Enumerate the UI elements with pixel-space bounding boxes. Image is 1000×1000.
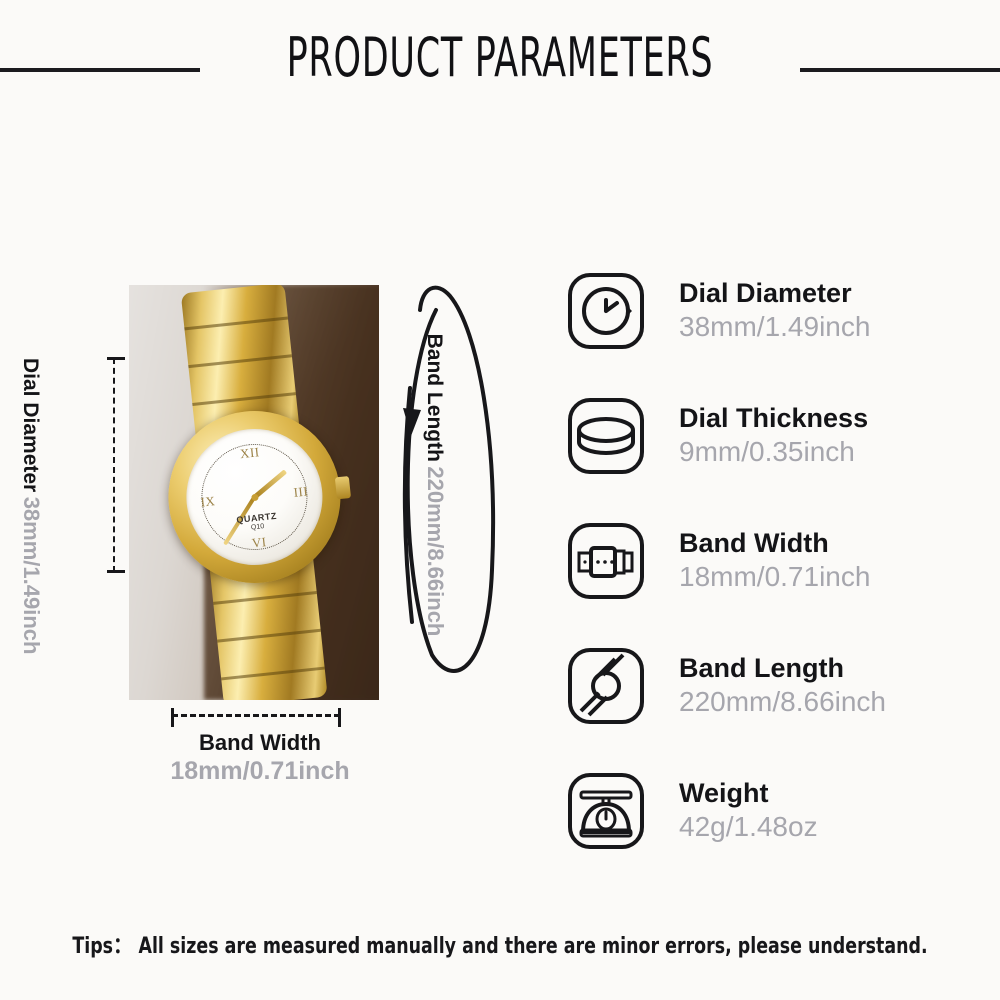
page-title: PRODUCT PARAMETERS bbox=[140, 30, 860, 87]
dial-diameter-measure-line bbox=[113, 358, 117, 572]
spec-label-band-length: Band Length bbox=[679, 652, 886, 685]
spec-value-dial-thickness: 9mm/0.35inch bbox=[679, 435, 868, 469]
spec-list: Dial Diameter 38mm/1.49inch Dial Thickne… bbox=[565, 248, 985, 873]
spec-value-dial-diameter: 38mm/1.49inch bbox=[679, 310, 870, 344]
band-length-annotation-text: Band Length 220mm/8.66inch bbox=[422, 320, 448, 650]
watch-dial-icon bbox=[565, 270, 647, 352]
spec-row-band-length: Band Length 220mm/8.66inch bbox=[565, 623, 985, 748]
band-length-annotation: Band Length 220mm/8.66inch bbox=[392, 270, 502, 690]
dial-diameter-annotation-label: Dial Diameter bbox=[19, 358, 42, 492]
spec-label-weight: Weight bbox=[679, 777, 818, 810]
spec-text-dial-diameter: Dial Diameter 38mm/1.49inch bbox=[679, 277, 870, 344]
watch-crown bbox=[335, 476, 351, 499]
spec-row-dial-diameter: Dial Diameter 38mm/1.49inch bbox=[565, 248, 985, 373]
band-width-annotation-label: Band Width bbox=[100, 730, 420, 756]
spec-text-weight: Weight 42g/1.48oz bbox=[679, 777, 818, 844]
dial-numeral-xii: XII bbox=[239, 444, 260, 462]
watch-case: XII IX III VI QUARTZ Q10 bbox=[160, 402, 349, 591]
spec-text-band-length: Band Length 220mm/8.66inch bbox=[679, 652, 886, 719]
product-parameters-page: PRODUCT PARAMETERS bbox=[0, 0, 1000, 1000]
product-photo: XII IX III VI QUARTZ Q10 bbox=[129, 285, 379, 700]
dial-diameter-annotation: Dial Diameter 38mm/1.49inch bbox=[17, 358, 44, 572]
watch-dial-face: XII IX III VI QUARTZ Q10 bbox=[180, 422, 329, 571]
band-length-annotation-label: Band Length bbox=[423, 334, 446, 462]
band-width-measure-line bbox=[172, 714, 340, 719]
spec-value-band-width: 18mm/0.71inch bbox=[679, 560, 870, 594]
band-width-annotation-value: 18mm/0.71inch bbox=[100, 756, 420, 786]
measure-cap-left bbox=[171, 708, 174, 727]
spec-label-dial-thickness: Dial Thickness bbox=[679, 402, 868, 435]
spec-value-band-length: 220mm/8.66inch bbox=[679, 685, 886, 719]
dial-brand-text: QUARTZ Q10 bbox=[236, 511, 278, 534]
measure-cap-top bbox=[107, 357, 125, 360]
spec-label-dial-diameter: Dial Diameter bbox=[679, 277, 870, 310]
dial-numeral-iii: III bbox=[293, 483, 309, 500]
dial-diameter-annotation-value: 38mm/1.49inch bbox=[19, 497, 44, 655]
spec-row-band-width: Band Width 18mm/0.71inch bbox=[565, 498, 985, 623]
band-width-annotation: Band Width 18mm/0.71inch bbox=[100, 730, 420, 786]
spec-row-dial-thickness: Dial Thickness 9mm/0.35inch bbox=[565, 373, 985, 498]
measure-cap-right bbox=[338, 708, 341, 727]
spec-value-weight: 42g/1.48oz bbox=[679, 810, 818, 844]
buckle-clasp-icon bbox=[565, 520, 647, 602]
spec-row-weight: Weight 42g/1.48oz bbox=[565, 748, 985, 873]
dial-center-pivot bbox=[251, 493, 259, 501]
kitchen-scale-icon bbox=[565, 770, 647, 852]
product-illustration-block: XII IX III VI QUARTZ Q10 bbox=[0, 250, 520, 810]
measure-cap-bottom bbox=[107, 570, 125, 573]
tips-note: Tips： All sizes are measured manually an… bbox=[60, 928, 940, 960]
wristwatch-graphic: XII IX III VI QUARTZ Q10 bbox=[134, 285, 375, 700]
spec-text-dial-thickness: Dial Thickness 9mm/0.35inch bbox=[679, 402, 868, 469]
watch-strap-icon bbox=[565, 645, 647, 727]
dial-numeral-vi: VI bbox=[251, 534, 267, 551]
band-length-annotation-value: 220mm/8.66inch bbox=[423, 466, 448, 636]
spec-label-band-width: Band Width bbox=[679, 527, 870, 560]
cylinder-thickness-icon bbox=[565, 395, 647, 477]
dial-numeral-ix: IX bbox=[200, 493, 216, 510]
spec-text-band-width: Band Width 18mm/0.71inch bbox=[679, 527, 870, 594]
page-header: PRODUCT PARAMETERS bbox=[0, 0, 1000, 120]
